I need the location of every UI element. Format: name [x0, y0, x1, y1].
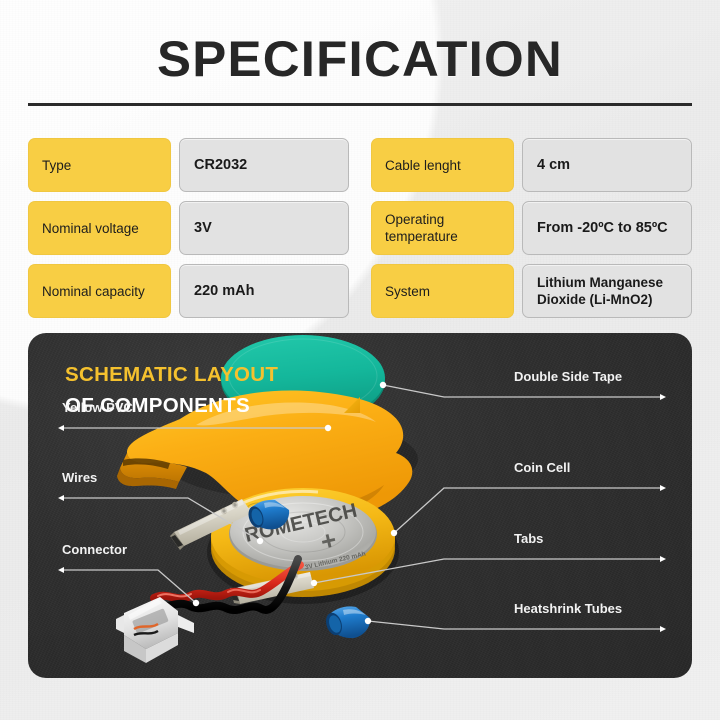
callout-heatshrink-tubes: Heatshrink Tubes: [514, 601, 622, 616]
spec-row-cable-lenght: Cable lenght 4 cm: [371, 138, 692, 192]
spec-value-system: Lithium Manganese Dioxide (Li-MnO2): [522, 264, 692, 318]
schematic-heading-line1: SCHEMATIC LAYOUT: [65, 363, 278, 387]
spec-key-operating-temperature: Operating temperature: [371, 201, 514, 255]
spec-key-cable-lenght: Cable lenght: [371, 138, 514, 192]
spec-value-operating-temperature: From -20ºC to 85ºC: [522, 201, 692, 255]
spec-value-type: CR2032: [179, 138, 349, 192]
callout-label-yellow-pvc: Yellow PVC: [62, 400, 133, 415]
spec-row-system: System Lithium Manganese Dioxide (Li-MnO…: [371, 264, 692, 318]
callout-connector: Connector: [62, 542, 127, 557]
spec-row-type: Type CR2032: [28, 138, 349, 192]
specification-table: Type CR2032 Cable lenght 4 cm Nominal vo…: [28, 138, 692, 318]
callout-double-side-tape: Double Side Tape: [514, 369, 622, 384]
callout-label-coin-cell: Coin Cell: [514, 460, 570, 475]
schematic-panel: SCHEMATIC LAYOUT OF COMPONENTS: [28, 333, 692, 678]
spec-value-nominal-capacity: 220 mAh: [179, 264, 349, 318]
callout-label-wires: Wires: [62, 470, 97, 485]
spec-key-nominal-capacity: Nominal capacity: [28, 264, 171, 318]
callout-label-heatshrink-tubes: Heatshrink Tubes: [514, 601, 622, 616]
spec-key-type: Type: [28, 138, 171, 192]
callout-label-double-side-tape: Double Side Tape: [514, 369, 622, 384]
title-divider: [28, 103, 692, 106]
callout-coin-cell: Coin Cell: [514, 460, 570, 475]
callout-tabs: Tabs: [514, 531, 543, 546]
spec-row-nominal-capacity: Nominal capacity 220 mAh: [28, 264, 349, 318]
spec-row-operating-temperature: Operating temperature From -20ºC to 85ºC: [371, 201, 692, 255]
spec-value-cable-lenght: 4 cm: [522, 138, 692, 192]
spec-value-nominal-voltage: 3V: [179, 201, 349, 255]
page-title: SPECIFICATION: [0, 30, 720, 88]
callout-label-connector: Connector: [62, 542, 127, 557]
spec-row-nominal-voltage: Nominal voltage 3V: [28, 201, 349, 255]
callout-yellow-pvc: Yellow PVC: [62, 400, 133, 415]
spec-key-system: System: [371, 264, 514, 318]
callout-wires: Wires: [62, 470, 97, 485]
spec-key-nominal-voltage: Nominal voltage: [28, 201, 171, 255]
callout-label-tabs: Tabs: [514, 531, 543, 546]
